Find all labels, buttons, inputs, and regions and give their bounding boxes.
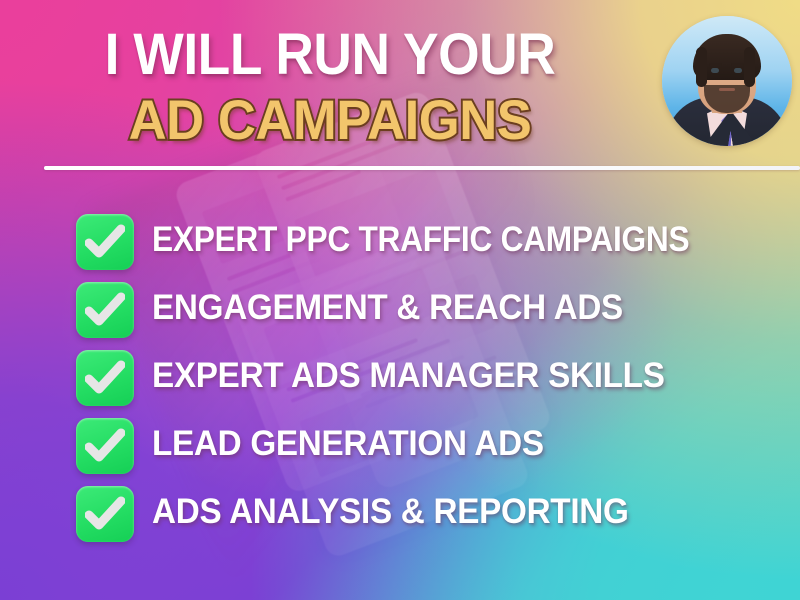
avatar-hair-side-right (744, 47, 755, 87)
list-item: EXPERT PPC TRAFFIC CAMPAIGNS (76, 208, 800, 276)
check-icon (76, 282, 134, 338)
avatar-eye-right (734, 68, 742, 73)
list-item-label: ENGAGEMENT & REACH ADS (152, 278, 623, 338)
check-icon (76, 486, 134, 542)
list-item-label: LEAD GENERATION ADS (152, 414, 544, 474)
avatar-eyebrow-left (709, 63, 722, 66)
list-item-label: EXPERT ADS MANAGER SKILLS (152, 346, 665, 406)
list-item-label: ADS ANALYSIS & REPORTING (152, 482, 629, 542)
avatar-mouth (719, 88, 735, 91)
avatar-hair-side-left (696, 47, 707, 87)
header-divider (44, 166, 800, 170)
page-title-line-1: I WILL RUN YOUR (26, 26, 633, 84)
list-item: ENGAGEMENT & REACH ADS (76, 276, 800, 344)
list-item: EXPERT ADS MANAGER SKILLS (76, 344, 800, 412)
list-item-label: EXPERT PPC TRAFFIC CAMPAIGNS (152, 210, 689, 270)
check-icon (76, 214, 134, 270)
check-icon (76, 350, 134, 406)
feature-checklist: EXPERT PPC TRAFFIC CAMPAIGNS ENGAGEMENT … (76, 208, 800, 548)
avatar-eyebrow-right (731, 63, 744, 66)
list-item: ADS ANALYSIS & REPORTING (76, 480, 800, 548)
list-item: LEAD GENERATION ADS (76, 412, 800, 480)
check-icon (76, 418, 134, 474)
promo-banner: I WILL RUN YOUR AD CAMPAIGNS EXPERT PPC … (0, 0, 800, 600)
page-title-line-2: AD CAMPAIGNS (20, 92, 640, 148)
avatar-eye-left (711, 68, 719, 73)
avatar (662, 16, 792, 146)
